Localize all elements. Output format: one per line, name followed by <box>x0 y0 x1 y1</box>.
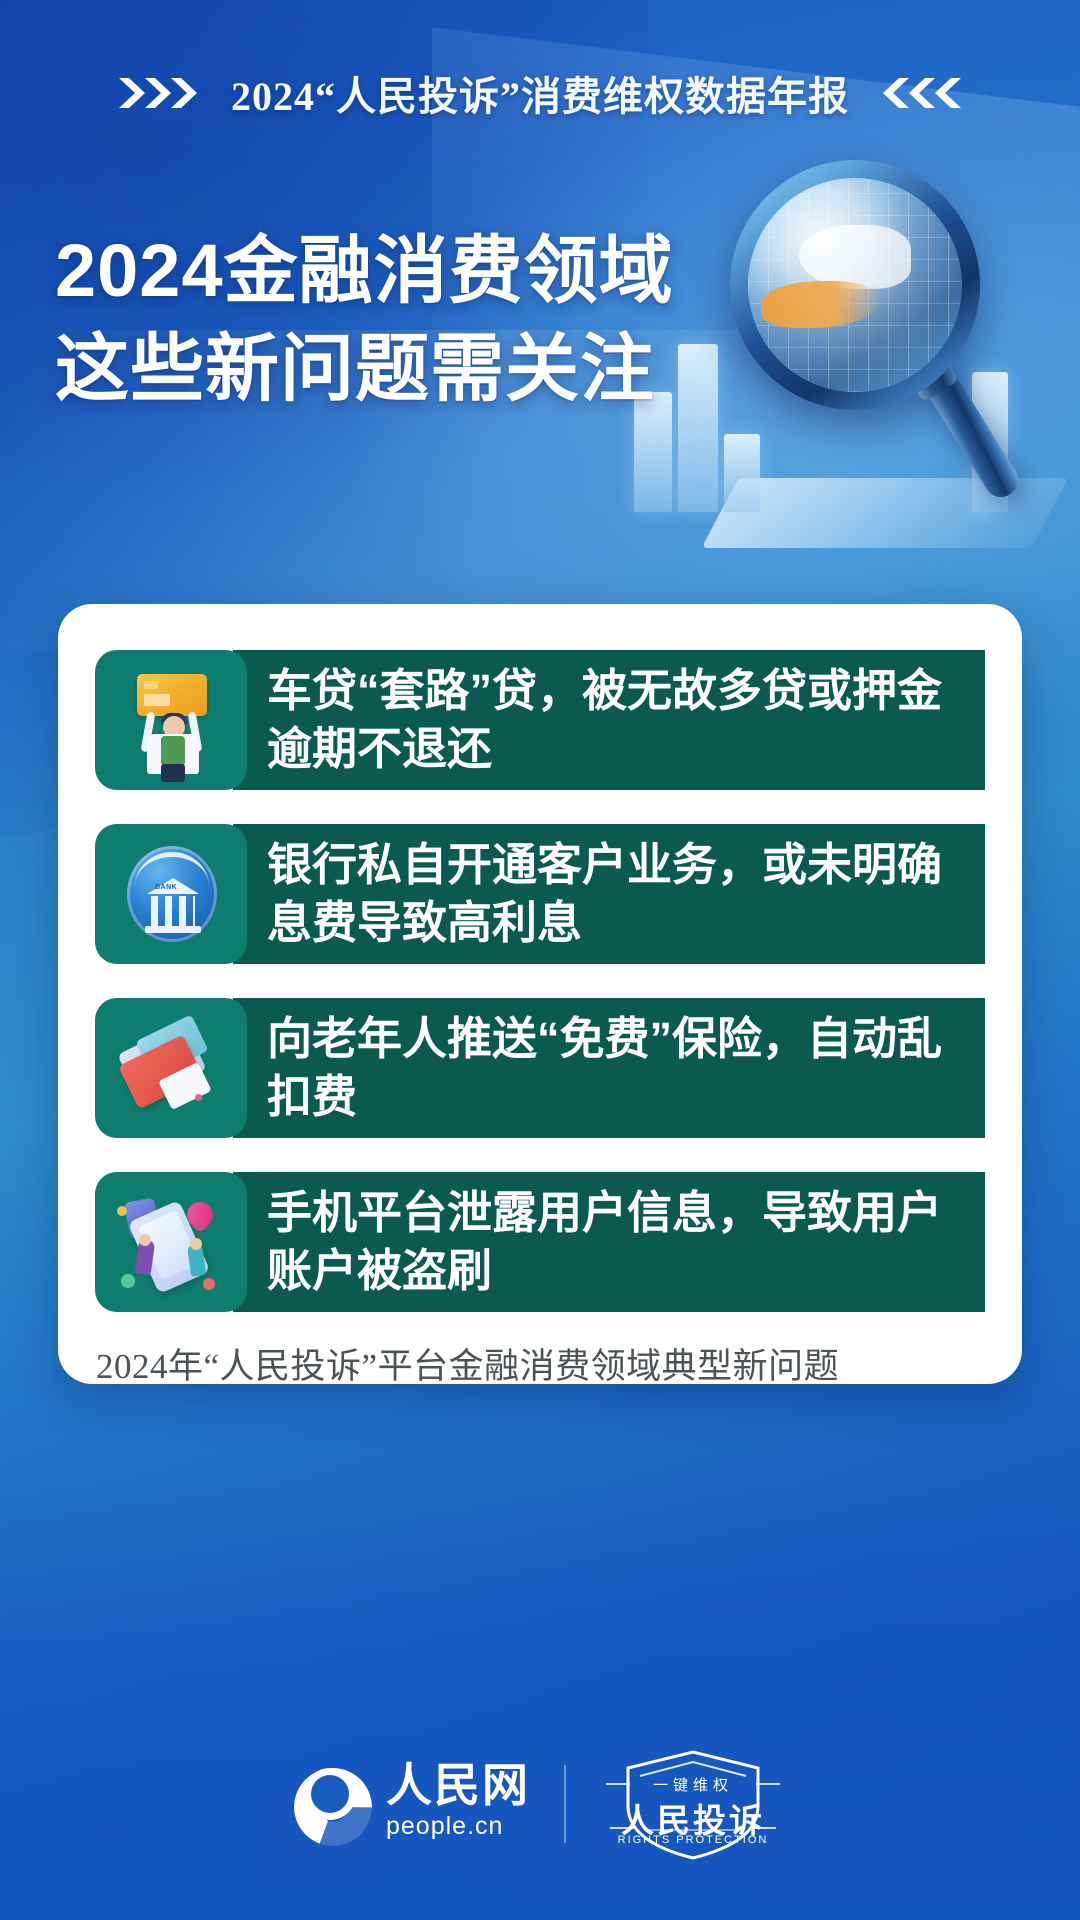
list-item[interactable]: 向老年人推送“免费”保险，自动乱扣费 <box>58 998 1022 1138</box>
people-cn-globe-icon <box>294 1768 372 1846</box>
poster-header: 2024“人民投诉”消费维权数据年报 <box>0 64 1080 122</box>
report-series-title: 2024“人民投诉”消费维权数据年报 <box>231 64 849 122</box>
poster-footer: 人民网 people.cn 一键维权 人民投诉 RIGHTS PROTECTIO… <box>0 1746 1080 1862</box>
magnifier-ring-icon <box>730 160 980 410</box>
people-cn-logo[interactable]: 人民网 people.cn <box>294 1762 530 1846</box>
badge-top-label: 一键维权 <box>600 1774 786 1795</box>
footer-divider <box>564 1765 566 1843</box>
rights-protection-badge[interactable]: 一键维权 人民投诉 RIGHTS PROTECTION <box>600 1746 786 1862</box>
panel-caption: 2024年“人民投诉”平台金融消费领域典型新问题 <box>96 1338 1022 1389</box>
issues-panel: 车贷“套路”贷，被无故多贷或押金逾期不退还 BANK 银行私自开通客户业务，或未… <box>58 604 1022 1384</box>
magnifier-lens <box>748 178 962 392</box>
list-item-label: 向老年人推送“免费”保险，自动乱扣费 <box>233 998 985 1138</box>
left-chevrons-icon <box>117 74 209 112</box>
list-item[interactable]: BANK 银行私自开通客户业务，或未明确息费导致高利息 <box>58 824 1022 964</box>
decorative-bar <box>724 434 760 512</box>
page-title: 2024金融消费领域 这些新问题需关注 <box>55 222 695 417</box>
people-cn-domain: people.cn <box>386 1808 530 1846</box>
bank-building-icon: BANK <box>95 824 247 964</box>
people-cn-name: 人民网 <box>386 1762 530 1808</box>
page-title-line-2: 这些新问题需关注 <box>55 320 695 418</box>
issues-list: 车贷“套路”贷，被无故多贷或押金逾期不退还 BANK 银行私自开通客户业务，或未… <box>58 650 1022 1312</box>
mobile-platform-users-icon <box>95 1172 247 1312</box>
list-item[interactable]: 手机平台泄露用户信息，导致用户账户被盗刷 <box>58 1172 1022 1312</box>
badge-bottom-label: RIGHTS PROTECTION <box>600 1834 786 1846</box>
list-item[interactable]: 车贷“套路”贷，被无故多贷或押金逾期不退还 <box>58 650 1022 790</box>
wallet-card-icon <box>95 998 247 1138</box>
list-item-label: 车贷“套路”贷，被无故多贷或押金逾期不退还 <box>233 650 985 790</box>
page-title-line-1: 2024金融消费领域 <box>55 222 695 320</box>
list-item-label: 银行私自开通客户业务，或未明确息费导致高利息 <box>233 824 985 964</box>
person-holding-bank-card-icon <box>95 650 247 790</box>
list-item-label: 手机平台泄露用户信息，导致用户账户被盗刷 <box>233 1172 985 1312</box>
right-chevrons-icon <box>871 74 963 112</box>
